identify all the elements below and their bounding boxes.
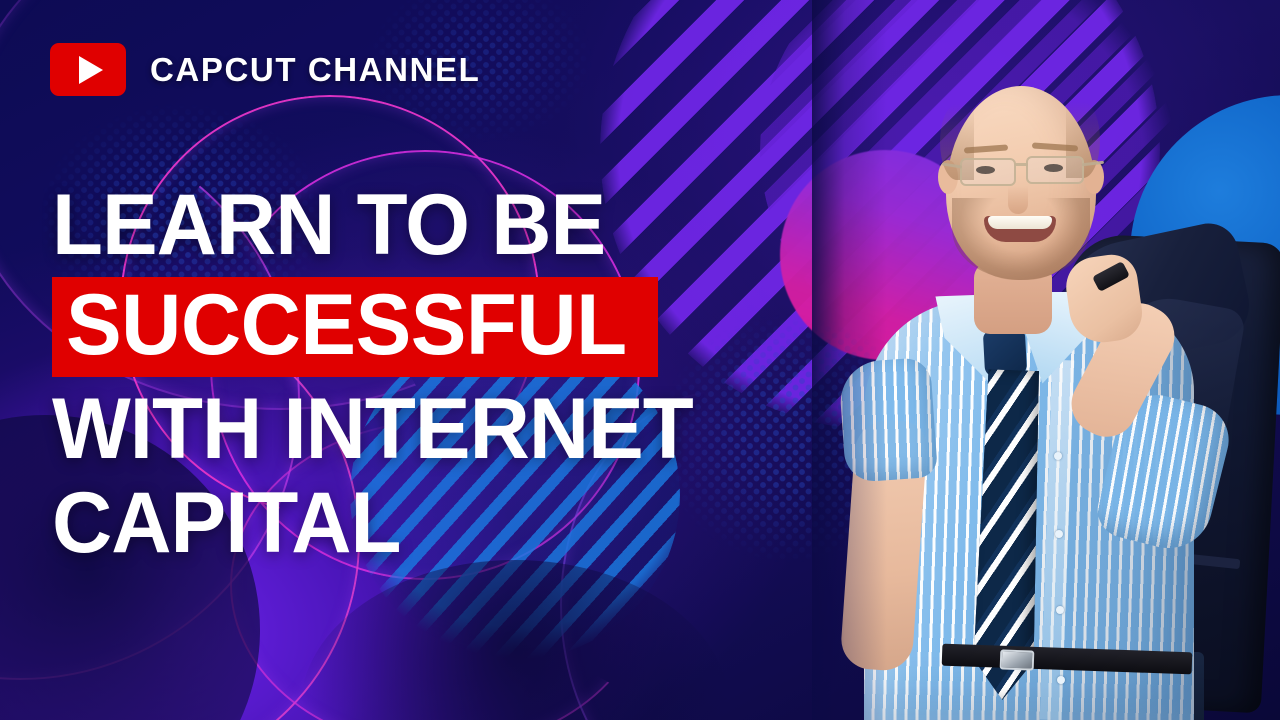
headline-line-4: CAPITAL [52, 481, 886, 566]
play-triangle-icon [79, 56, 103, 84]
headline-highlight-band: SUCCESSFUL [52, 277, 658, 377]
mouth [984, 216, 1056, 242]
channel-name-label: CAPCUT CHANNEL [150, 51, 480, 89]
eyeglasses-icon [960, 158, 1016, 186]
belt-buckle [1000, 649, 1035, 670]
headline-line-2: SUCCESSFUL [66, 283, 627, 367]
shirt-button [1056, 606, 1064, 614]
youtube-play-icon[interactable] [50, 43, 126, 96]
headline-line-1: LEARN TO BE [52, 183, 886, 268]
headline-block: LEARN TO BE SUCCESSFUL WITH INTERNET CAP… [52, 183, 912, 566]
shirt-button [1055, 530, 1063, 538]
channel-badge[interactable]: CAPCUT CHANNEL [50, 43, 480, 96]
teeth [988, 216, 1052, 229]
eyeglasses-icon [1026, 156, 1084, 184]
thumbnail-canvas: CAPCUT CHANNEL LEARN TO BE SUCCESSFUL WI… [0, 0, 1280, 720]
headline-line-3: WITH INTERNET [52, 387, 886, 472]
eyeglasses-bridge [1015, 163, 1028, 166]
nose [1008, 186, 1028, 214]
shirt-button [1057, 676, 1065, 684]
shirt-button [1054, 452, 1062, 460]
